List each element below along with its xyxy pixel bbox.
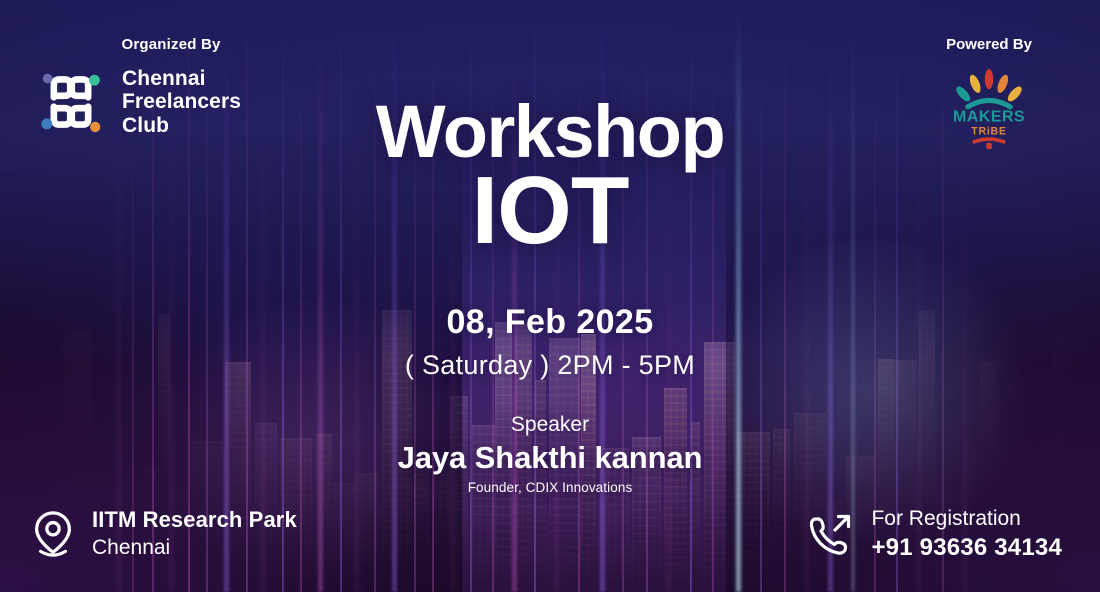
registration-phone-number: +91 93636 34134 xyxy=(871,534,1062,562)
organizer-name-line1: Chennai xyxy=(122,67,241,91)
phone-outgoing-icon xyxy=(807,510,855,558)
venue-name: IITM Research Park xyxy=(92,508,297,533)
venue-block: IITM Research Park Chennai xyxy=(30,508,297,560)
location-pin-icon xyxy=(30,509,76,559)
registration-block: For Registration +91 93636 34134 xyxy=(807,507,1062,562)
registration-text: For Registration +91 93636 34134 xyxy=(871,507,1062,562)
event-poster: Organized By xyxy=(0,0,1100,592)
venue-city: Chennai xyxy=(92,535,297,560)
main-text-block: Workshop IOT 08, Feb 2025 ( Saturday ) 2… xyxy=(0,96,1100,495)
powered-by-label: Powered By xyxy=(914,36,1064,53)
title-iot: IOT xyxy=(0,165,1100,257)
logo-dot-top-right xyxy=(89,75,100,86)
registration-label: For Registration xyxy=(871,507,1062,532)
speaker-name: Jaya Shakthi kannan xyxy=(0,440,1100,476)
venue-text: IITM Research Park Chennai xyxy=(92,508,297,560)
speaker-role: Founder, CDIX Innovations xyxy=(0,480,1100,495)
organized-by-label: Organized By xyxy=(32,36,292,53)
logo-dot-top-left xyxy=(43,74,53,84)
event-time: ( Saturday ) 2PM - 5PM xyxy=(0,350,1100,381)
event-date: 08, Feb 2025 xyxy=(0,303,1100,342)
poster-content: Organized By xyxy=(0,0,1100,592)
speaker-label: Speaker xyxy=(0,413,1100,437)
